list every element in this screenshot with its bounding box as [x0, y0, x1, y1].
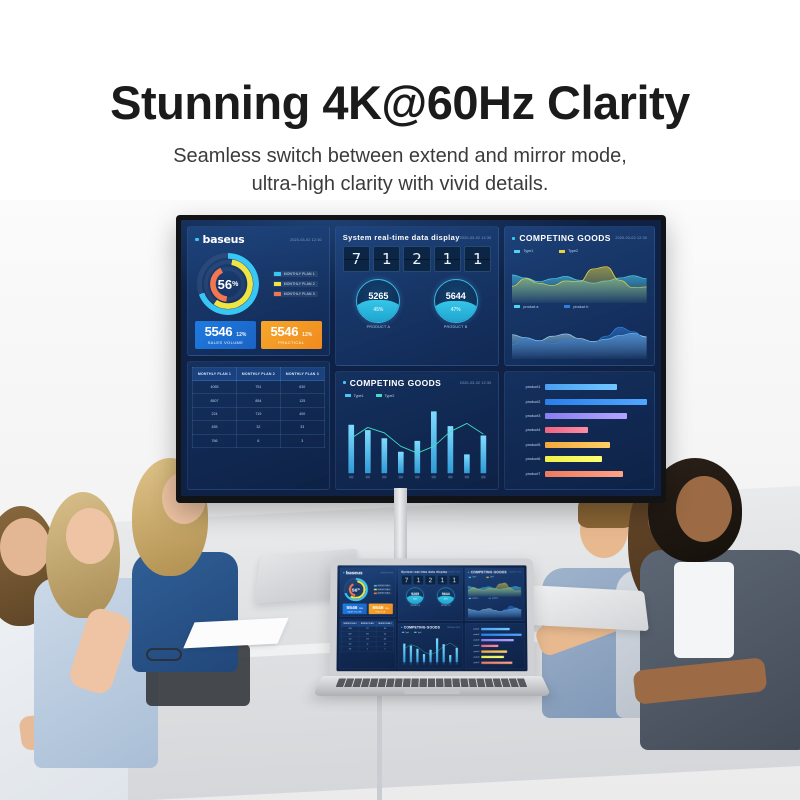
monthly-plan-table: MONTHLY PLAN 1 MONTHLY PLAN 2 MONTHLY PL…: [341, 621, 394, 652]
realtime-title: System real-time data display: [401, 570, 447, 573]
flip-digit: 1: [449, 575, 460, 585]
product-bar-row: product6: [512, 456, 647, 462]
kpi-top-row: 5546 12%: [371, 605, 391, 611]
product-bar-fill: [545, 384, 616, 390]
table-row: 8507854125: [193, 394, 325, 407]
flip-digit-value: 1: [382, 250, 392, 268]
gauge-label: PRODUCT B: [444, 325, 468, 329]
legend-label: MONTHLY PLAN 2: [378, 589, 390, 591]
laptop-base: [313, 676, 552, 696]
table-cell: 6: [359, 647, 376, 652]
legend-item: MONTHLY PLAN 1: [273, 271, 318, 277]
dashboard-column-right: COMPETING GOODS 2020-03-02 12:30 Type1: [465, 568, 525, 669]
product-bar-fill: [481, 634, 521, 636]
donut-legend: MONTHLY PLAN 1 MONTHLY PLAN 2 MONTHLY PL…: [273, 271, 320, 297]
product-bar-label: product5: [512, 443, 540, 447]
area-chart-bottom-svg: [468, 600, 521, 618]
legend-label: product a: [472, 598, 478, 600]
product-bar-label: product6: [512, 457, 540, 461]
legend-label: MONTHLY PLAN 3: [284, 292, 315, 296]
kpi-label: PRACTICAL: [371, 611, 391, 613]
paper-documents: [183, 618, 289, 649]
product-bar-track: [545, 384, 647, 390]
competing-area-title: COMPETING GOODS: [519, 233, 610, 243]
dashboard-laptop-mirror: baseus 2020-03-02 12:30: [336, 565, 527, 671]
table-header-cell: MONTHLY PLAN 1: [193, 368, 237, 381]
gauge-label: PRODUCT A: [367, 325, 391, 329]
kpi-delta: 12%: [236, 332, 246, 338]
legend-label: Type2: [385, 394, 395, 398]
flip-digit: 1: [437, 575, 448, 585]
legend-label: Type1: [354, 394, 364, 398]
realtime-header: System real-time data display 2020-03-02…: [401, 570, 460, 573]
gauge-row: 5265 45% PRODUCT A 5644 47%: [401, 587, 460, 607]
donut-unit: %: [232, 281, 238, 288]
product-bar-fill: [481, 650, 507, 652]
kpi-delta: 12%: [302, 332, 312, 338]
kpi-card-row: 5546 12% SALES VOLUME 5546 12%: [195, 321, 322, 349]
table-row: 76663: [193, 434, 325, 447]
bullet-icon: [468, 572, 469, 573]
flip-digit-value: 7: [352, 250, 362, 268]
donut-center-value: 56%: [197, 253, 259, 315]
product-bar-track: [481, 634, 521, 636]
area-chart-top-svg: [468, 579, 521, 597]
laptop-screen: baseus 2020-03-02 12:30: [336, 565, 527, 671]
table-cell: 33: [280, 421, 324, 434]
legend-item: MONTHLY PLAN 3: [273, 291, 318, 297]
legend-label: Type2: [568, 249, 578, 253]
competing-bar-title-group: COMPETING GOODS: [343, 378, 441, 388]
flip-digit-value: 1: [417, 577, 421, 584]
product-bar-row: product7: [468, 661, 522, 663]
laptop-right-secondary: [528, 588, 646, 628]
donut-center-value: 56%: [343, 578, 368, 601]
kpi-delta: 12%: [385, 608, 389, 610]
gauge-label: PRODUCT B: [441, 605, 450, 607]
donut-unit: %: [357, 588, 359, 591]
area-chart-top-svg: [512, 256, 647, 303]
competing-bar-title: COMPETING GOODS: [404, 626, 440, 630]
product-bar-label: product6: [468, 656, 479, 658]
realtime-title: System real-time data display: [343, 233, 460, 242]
legend-color-chip: [402, 632, 404, 633]
product-bar-fill: [545, 399, 647, 405]
brand-dot-icon: [195, 238, 199, 242]
product-bar-row: product1: [512, 384, 647, 390]
realtime-timestamp: 2020-03-02 12:30: [447, 571, 459, 573]
dashboard-column-left: baseus 2020-03-02 12:30: [187, 226, 330, 490]
laptop: baseus 2020-03-02 12:30: [322, 558, 542, 723]
donut-chart-section: 56% MONTHLY PLAN 1: [343, 577, 393, 602]
product-bar-fill: [481, 661, 512, 663]
table-cell: 751: [236, 381, 280, 394]
table-cell: 630: [280, 381, 324, 394]
legend-color-chip: [486, 576, 488, 577]
legend-item: Type2: [486, 576, 493, 578]
competing-goods-bar-chart: [343, 401, 492, 483]
product-bar-row: product3: [512, 413, 647, 419]
kpi-top-row: 5546 12%: [266, 324, 317, 339]
realtime-panel: System real-time data display 2020-03-02…: [335, 226, 500, 366]
legend-item: MONTHLY PLAN 3: [373, 592, 391, 594]
subtitle-line-1: Seamless switch between extend and mirro…: [0, 143, 800, 171]
product-bar-fill: [481, 628, 509, 630]
table-cell: 455: [193, 421, 237, 434]
product-bar-fill: [481, 656, 504, 658]
flip-digit: 1: [464, 246, 491, 272]
kpi-value: 5546: [346, 605, 357, 611]
flip-digit-value: 2: [429, 577, 433, 584]
flip-digit: 2: [425, 575, 436, 585]
gauge-label: PRODUCT A: [410, 605, 419, 607]
product-bar-track: [481, 661, 521, 663]
competing-goods-bar-panel: COMPETING GOODS 2020-03-02 12:30 Type1: [398, 623, 464, 669]
product-bar-label: product7: [512, 472, 540, 476]
table-cell: 854: [236, 394, 280, 407]
bullet-icon: [401, 627, 402, 628]
table-cell: 400: [280, 407, 324, 420]
competing-goods-bar-chart: [401, 634, 460, 666]
dashboard-column-middle: System real-time data display 2020-03-02…: [398, 568, 464, 669]
competing-bar-timestamp: 2020-03-02 12:30: [447, 627, 460, 629]
dashboard-column-middle: System real-time data display 2020-03-02…: [335, 226, 500, 490]
legend-label: MONTHLY PLAN 2: [284, 282, 315, 286]
water-gauge: 5644 47%: [434, 279, 478, 323]
area-chart-bottom: [468, 600, 521, 618]
flip-digit-value: 1: [441, 577, 445, 584]
flip-digit-row: 71211: [343, 246, 492, 272]
table-cell: 3: [280, 434, 324, 447]
brand-name: baseus: [346, 570, 363, 575]
competing-area-title-group: COMPETING GOODS: [512, 233, 610, 243]
gauge-product-a: 5265 45% PRODUCT A: [356, 279, 400, 329]
kpi-label: PRACTICAL: [266, 340, 317, 345]
product-bar-fill: [545, 471, 622, 477]
competing-bar-title-group: COMPETING GOODS: [401, 626, 440, 630]
legend-color-chip: [274, 292, 281, 296]
dashboard-column-right: COMPETING GOODS 2020-03-02 12:30 Type1: [504, 226, 655, 490]
competing-goods-area-panel: COMPETING GOODS 2020-03-02 12:30 Type1: [504, 226, 655, 366]
kpi-top-row: 5546 12%: [200, 324, 251, 339]
product-bar-fill: [545, 456, 602, 462]
legend-label: Type2: [418, 632, 422, 634]
overview-panel: baseus 2020-03-02 12:30: [339, 568, 396, 617]
product-bar-track: [545, 442, 647, 448]
legend-item: Type1: [514, 249, 533, 253]
table-cell: 6: [236, 434, 280, 447]
legend-color-chip: [274, 282, 281, 286]
legend-label: product b: [492, 598, 498, 600]
donut-value: 56: [218, 277, 232, 292]
kpi-delta: 12%: [359, 608, 363, 610]
product-bar-row: product7: [512, 471, 647, 477]
gauge-percent: 47%: [435, 280, 477, 322]
gauge-percent: 45%: [357, 280, 399, 322]
kpi-value: 5546: [372, 605, 383, 611]
flip-digit-value: 1: [452, 577, 456, 584]
competing-area-timestamp: 2020-03-02 12:30: [509, 571, 521, 573]
legend-color-chip: [374, 589, 377, 590]
overview-timestamp: 2020-03-02 12:30: [290, 238, 322, 242]
product-bar-label: product2: [468, 634, 479, 636]
table-row: 224719400: [193, 407, 325, 420]
overview-timestamp: 2020-03-02 12:30: [380, 572, 392, 574]
legend-color-chip: [514, 305, 520, 308]
legend-label: Type1: [405, 632, 409, 634]
competing-goods-bar-panel: COMPETING GOODS 2020-03-02 12:30 Type1: [335, 371, 500, 490]
bullet-icon: [512, 237, 515, 240]
legend-item: MONTHLY PLAN 2: [273, 281, 318, 287]
kpi-label: SALES VOLUME: [345, 611, 365, 613]
legend-color-chip: [469, 598, 471, 599]
flip-digit-value: 2: [412, 250, 422, 268]
legend-label: product b: [573, 305, 588, 309]
laptop-trackpad: [404, 688, 460, 694]
water-gauge: 5265 45%: [406, 588, 423, 605]
page-title: Stunning 4K@60Hz Clarity: [0, 78, 800, 127]
kpi-card-practical: 5546 12% PRACTICAL: [261, 321, 322, 349]
product-bar-row: product1: [468, 628, 521, 630]
overview-header: baseus 2020-03-02 12:30: [195, 233, 322, 246]
product-bar-row: product4: [512, 427, 647, 433]
competing-goods-area-panel: COMPETING GOODS 2020-03-02 12:30 Type1: [465, 568, 525, 621]
table-cell: 8507: [193, 394, 237, 407]
flip-digit-value: 7: [405, 577, 409, 584]
table-cell: 719: [236, 407, 280, 420]
product-bar-fill: [545, 442, 610, 448]
realtime-header: System real-time data display 2020-03-02…: [343, 233, 492, 242]
legend-color-chip: [274, 272, 281, 276]
tv-bezel: baseus 2020-03-02 12:30: [176, 215, 666, 503]
flip-digit: 7: [343, 246, 370, 272]
legend-color-chip: [376, 394, 382, 397]
area-chart-bottom: [512, 312, 647, 359]
realtime-timestamp: 2020-03-02 12:30: [460, 236, 492, 240]
monthly-plan-table: MONTHLY PLAN 1 MONTHLY PLAN 2 MONTHLY PL…: [192, 367, 325, 448]
dashboard-column-left: baseus 2020-03-02 12:30: [339, 568, 396, 669]
product-bar-track: [481, 628, 521, 630]
product-bar-panel: product1product2product3product4product5…: [504, 371, 655, 490]
table-cell: 3: [376, 647, 393, 652]
gauge-product-a: 5265 45% PRODUCT A: [406, 588, 423, 607]
table-cell: 4055: [193, 381, 237, 394]
product-bar-track: [545, 413, 647, 419]
product-bar-panel: product1product2product3product4product5…: [465, 623, 525, 669]
flip-digit-row: 71211: [401, 575, 460, 585]
legend-item: Type2: [376, 394, 395, 398]
product-bar-track: [545, 471, 647, 477]
area-legend-top: Type1 Type2: [512, 247, 647, 256]
legend-item: product a: [514, 305, 538, 309]
competing-area-timestamp: 2020-03-02 12:30: [615, 236, 647, 240]
legend-label: MONTHLY PLAN 1: [378, 585, 390, 587]
legend-color-chip: [514, 250, 520, 253]
kpi-label: SALES VOLUME: [200, 340, 251, 345]
legend-item: Type1: [402, 632, 409, 634]
brand-logo: baseus: [195, 233, 244, 246]
table-cell: 766: [341, 647, 358, 652]
monthly-plan-table-panel: MONTHLY PLAN 1 MONTHLY PLAN 2 MONTHLY PL…: [187, 361, 330, 490]
product-bar-fill: [481, 645, 498, 647]
kpi-card-sales-volume: 5546 12% SALES VOLUME: [343, 604, 367, 615]
gauge-percent: 45%: [407, 588, 424, 604]
legend-color-chip: [345, 394, 351, 397]
product-bar-label: product2: [512, 400, 540, 404]
table-header-cell: MONTHLY PLAN 2: [236, 368, 280, 381]
product-bar-row: product4: [468, 645, 521, 647]
product-horizontal-bars: product1product2product3product4product5…: [468, 626, 522, 667]
flip-digit-value: 1: [443, 250, 453, 268]
kpi-card-sales-volume: 5546 12% SALES VOLUME: [195, 321, 256, 349]
flip-digit: 1: [373, 246, 400, 272]
gauge-product-b: 5644 47% PRODUCT B: [437, 588, 454, 607]
competing-area-header: COMPETING GOODS 2020-03-02 12:30: [468, 570, 521, 574]
legend-label: Type1: [523, 249, 533, 253]
gauge-percent: 47%: [437, 588, 454, 604]
legend-item: Type2: [414, 632, 421, 634]
legend-color-chip: [564, 305, 570, 308]
product-bar-label: product1: [468, 628, 479, 630]
competing-bar-header: COMPETING GOODS 2020-03-02 12:30: [343, 378, 492, 388]
laptop-keyboard: [336, 678, 529, 686]
dashboard-laptop-mirror-content: baseus 2020-03-02 12:30: [336, 565, 527, 671]
product-bar-label: product1: [512, 385, 540, 389]
legend-label: product a: [523, 305, 538, 309]
bullet-icon: [343, 381, 346, 384]
legend-color-chip: [374, 585, 377, 586]
kpi-value: 5546: [270, 324, 298, 339]
table-row: 4553233: [193, 421, 325, 434]
competing-area-title-group: COMPETING GOODS: [468, 570, 507, 574]
table-body: 4055751630850785412522471940045532337666…: [193, 381, 325, 448]
table-body: 4055751630850785412522471940045532337666…: [341, 626, 393, 652]
flip-digit: 1: [413, 575, 424, 585]
legend-item: product a: [469, 598, 478, 600]
flip-digit: 1: [434, 246, 461, 272]
competing-bar-legend: Type1 Type2: [343, 392, 492, 401]
table-header-cell: MONTHLY PLAN 3: [280, 368, 324, 381]
product-bar-fill: [481, 639, 513, 641]
product-bar-track: [481, 656, 521, 658]
legend-label: Type1: [472, 576, 476, 578]
donut-chart: 56%: [343, 578, 368, 601]
legend-item: product b: [489, 598, 498, 600]
laptop-lid: baseus 2020-03-02 12:30: [329, 558, 534, 680]
legend-item: MONTHLY PLAN 2: [373, 588, 391, 590]
brand-name: baseus: [203, 233, 245, 246]
table-cell: 32: [236, 421, 280, 434]
kpi-value: 5546: [205, 324, 233, 339]
product-bar-label: product4: [512, 428, 540, 432]
kpi-top-row: 5546 12%: [345, 605, 365, 611]
water-gauge: 5644 47%: [437, 588, 454, 605]
headline-block: Stunning 4K@60Hz Clarity Seamless switch…: [0, 0, 800, 210]
flip-digit: 7: [401, 575, 412, 585]
competing-bar-header: COMPETING GOODS 2020-03-02 12:30: [401, 626, 460, 630]
legend-item: Type1: [469, 576, 476, 578]
table-row: 76663: [341, 647, 393, 652]
product-bar-row: product2: [468, 634, 521, 636]
water-gauge: 5265 45%: [356, 279, 400, 323]
product-bar-label: product5: [468, 651, 479, 653]
competing-area-header: COMPETING GOODS 2020-03-02 12:30: [512, 233, 647, 243]
product-bar-fill: [545, 413, 626, 419]
product-bar-label: product3: [468, 640, 479, 642]
legend-item: MONTHLY PLAN 1: [374, 585, 392, 587]
area-legend-bottom: product a product b: [512, 303, 647, 312]
product-bar-track: [545, 456, 647, 462]
table-row: 4055751630: [193, 381, 325, 394]
product-bar-track: [545, 427, 647, 433]
table-cell: 766: [193, 434, 237, 447]
gauge-row: 5265 45% PRODUCT A 5644 47%: [343, 277, 492, 329]
product-bar-label: product7: [468, 662, 479, 664]
flip-digit: 2: [403, 246, 430, 272]
overview-panel: baseus 2020-03-02 12:30: [187, 226, 330, 356]
subtitle-line-2: ultra-high clarity with vivid details.: [0, 171, 800, 199]
realtime-panel: System real-time data display 2020-03-02…: [398, 568, 463, 621]
competing-area-title: COMPETING GOODS: [471, 570, 507, 574]
area-chart-bottom-svg: [512, 312, 647, 359]
product-bar-row: product6: [468, 656, 522, 658]
gauge-product-b: 5644 47% PRODUCT B: [434, 279, 478, 329]
legend-color-chip: [414, 632, 416, 633]
product-bar-row: product2: [512, 399, 647, 405]
bar-chart-svg: [401, 634, 460, 666]
table-cell: 224: [193, 407, 237, 420]
product-bar-track: [481, 650, 521, 652]
product-bar-label: product3: [512, 414, 540, 418]
kpi-card-row: 5546 12% SALES VOLUME 5546 12%: [343, 604, 393, 615]
legend-item: product b: [564, 305, 588, 309]
table-cell: 125: [280, 394, 324, 407]
donut-legend: MONTHLY PLAN 1 MONTHLY PLAN 2 MONTHLY PL…: [373, 585, 392, 595]
legend-item: Type1: [345, 394, 364, 398]
kpi-card-practical: 5546 12% PRACTICAL: [369, 604, 393, 615]
flip-digit-value: 1: [473, 250, 483, 268]
brand-logo: baseus: [343, 570, 362, 575]
legend-label: MONTHLY PLAN 1: [284, 272, 315, 276]
dashboard-tv: baseus 2020-03-02 12:30: [181, 220, 661, 496]
monthly-plan-table-panel: MONTHLY PLAN 1 MONTHLY PLAN 2 MONTHLY PL…: [339, 619, 396, 669]
donut-chart-section: 56% MONTHLY PLAN 1: [195, 250, 322, 317]
tv-screen: baseus 2020-03-02 12:30: [181, 220, 661, 496]
wall-mounted-tv: baseus 2020-03-02 12:30: [176, 215, 666, 503]
product-bar-fill: [545, 427, 588, 433]
product-bar-track: [481, 639, 521, 641]
legend-color-chip: [559, 250, 565, 253]
legend-label: Type2: [490, 576, 494, 578]
product-bar-track: [481, 645, 521, 647]
legend-color-chip: [374, 593, 377, 594]
product-bar-track: [545, 399, 647, 405]
legend-item: Type2: [559, 249, 578, 253]
competing-bar-timestamp: 2020-03-02 12:30: [460, 381, 492, 385]
brand-dot-icon: [343, 572, 344, 573]
eyeglasses-prop: [146, 648, 182, 661]
competing-bar-title: COMPETING GOODS: [350, 378, 441, 388]
product-bar-row: product5: [468, 650, 521, 652]
legend-color-chip: [489, 598, 491, 599]
product-bar-row: product5: [512, 442, 647, 448]
legend-color-chip: [469, 576, 471, 577]
area-chart-top: [512, 256, 647, 303]
overview-header: baseus 2020-03-02 12:30: [343, 570, 393, 575]
conference-room-scene: baseus 2020-03-02 12:30: [0, 200, 800, 800]
area-chart-top: [468, 579, 521, 597]
product-horizontal-bars: product1product2product3product4product5…: [512, 378, 647, 483]
